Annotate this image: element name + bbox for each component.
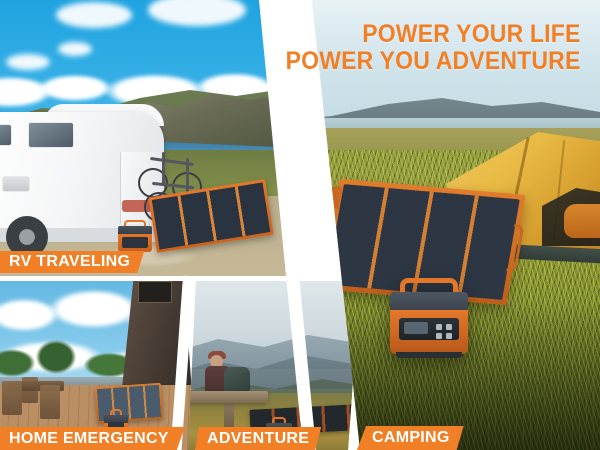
power-station-control-panel xyxy=(122,237,148,248)
motorhome-window xyxy=(28,122,74,148)
patio-chair xyxy=(40,385,60,419)
label-home-emergency[interactable]: HOME EMERGENCY xyxy=(0,427,185,450)
label-camping[interactable]: CAMPING xyxy=(357,426,464,450)
patio-chair xyxy=(2,381,22,415)
power-station-foot xyxy=(396,352,462,358)
power-station xyxy=(118,220,152,252)
cloud xyxy=(6,54,50,70)
sleeping-bag xyxy=(564,204,600,238)
house-window xyxy=(138,281,172,303)
power-station-top xyxy=(390,292,468,312)
headline-line-2: POWER YOU ADVENTURE xyxy=(285,49,580,74)
bicycle-frame xyxy=(162,152,165,186)
power-station-port xyxy=(446,333,452,339)
cloud xyxy=(58,42,92,56)
power-station xyxy=(390,278,468,354)
label-rv-traveling[interactable]: RV TRAVELING xyxy=(0,251,144,273)
power-station-display xyxy=(404,322,428,334)
headline-line-1: POWER YOUR LIFE xyxy=(285,22,580,47)
cloud xyxy=(56,2,132,28)
power-station-port xyxy=(436,333,442,339)
panel-home-emergency[interactable] xyxy=(0,281,196,450)
panel-rv-traveling[interactable] xyxy=(0,0,292,278)
lifestyle-collage: POWER YOUR LIFE POWER YOU ADVENTURE RV T… xyxy=(0,0,600,450)
panel-adventure[interactable] xyxy=(188,281,360,450)
power-station-port xyxy=(436,324,442,330)
motorhome-window xyxy=(2,176,30,192)
power-station-port xyxy=(446,324,452,330)
motorhome-window xyxy=(0,124,12,146)
headline: POWER YOUR LIFE POWER YOU ADVENTURE xyxy=(260,22,581,74)
wooden-bench xyxy=(188,391,268,403)
label-adventure[interactable]: ADVENTURE xyxy=(195,427,321,450)
